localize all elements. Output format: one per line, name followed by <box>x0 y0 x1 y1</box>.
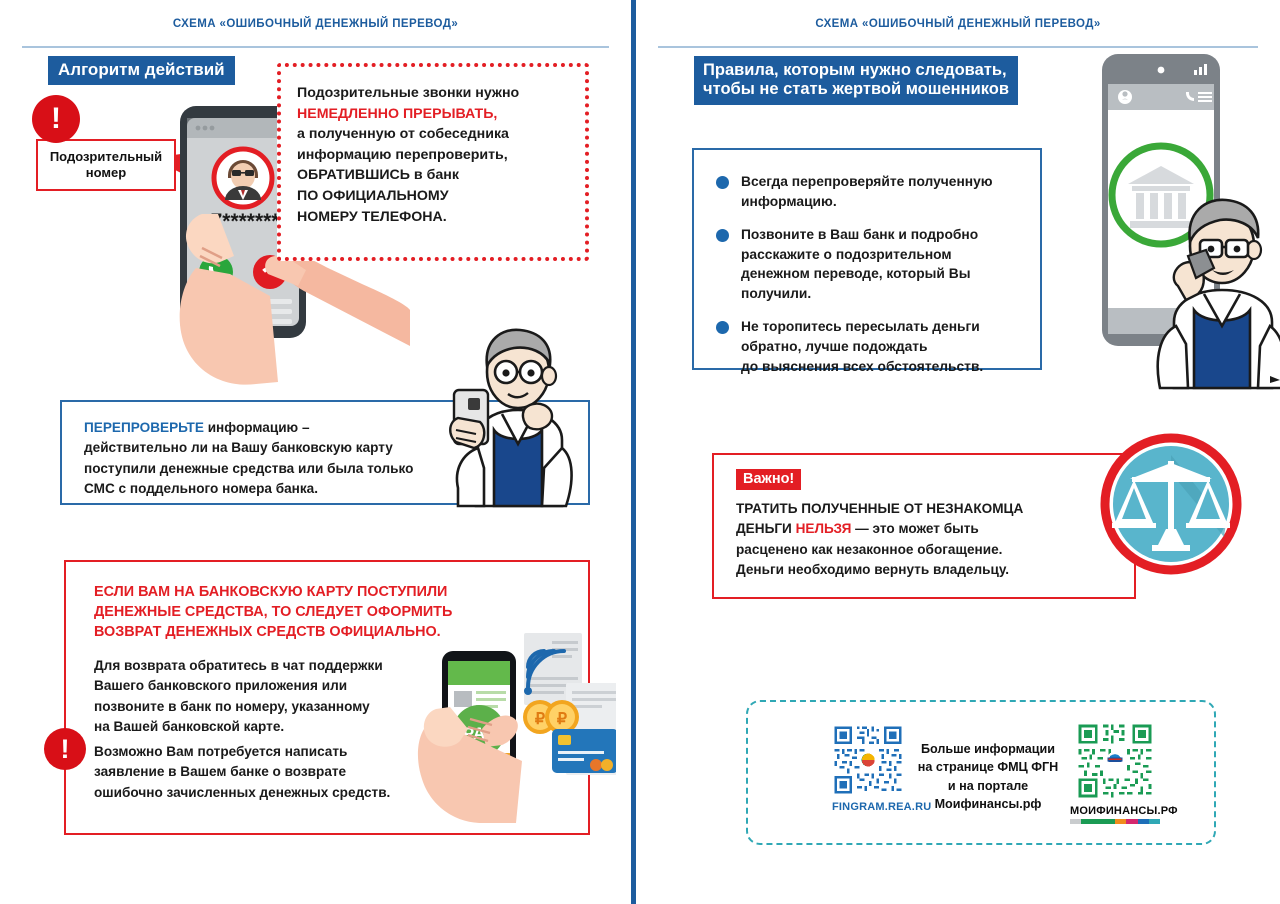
elderly-man-calling-illustration <box>1148 190 1280 390</box>
important-line-1: ТРАТИТЬ ПОЛУЧЕННЫЕ ОТ НЕЗНАКОМЦА <box>736 501 1023 516</box>
return-funds-heading: ЕСЛИ ВАМ НА БАНКОВСКУЮ КАРТУ ПОСТУПИЛИ Д… <box>94 582 452 642</box>
bullet-dot-icon <box>716 176 729 189</box>
return-heading-line-1: ЕСЛИ ВАМ НА БАНКОВСКУЮ КАРТУ ПОСТУПИЛИ <box>94 584 447 600</box>
verify-line-3: поступили денежные средства или была тол… <box>84 461 413 476</box>
right-page: СХЕМА «ОШИБОЧНЫЙ ДЕНЕЖНЫЙ ПЕРЕВОД» Прави… <box>636 0 1280 904</box>
right-page-header: СХЕМА «ОШИБОЧНЫЙ ДЕНЕЖНЫЙ ПЕРЕВОД» <box>658 18 1258 48</box>
return-p1-line-2: Вашего банковского приложения или <box>94 678 347 693</box>
important-box-content: Важно! ТРАТИТЬ ПОЛУЧЕННЫЕ ОТ НЕЗНАКОМЦА … <box>714 455 1134 581</box>
elderly-man-thinking-illustration <box>432 318 612 508</box>
exclamation-icon-return: ! <box>44 728 86 770</box>
qr-code-moifinansy-icon[interactable] <box>1076 722 1154 800</box>
important-line-2-red: НЕЛЬЗЯ <box>796 521 852 536</box>
header-rule <box>22 46 609 48</box>
footer-info-text: Больше информации на странице ФМЦ ФГН и … <box>898 740 1078 813</box>
important-line-2a: ДЕНЬГИ <box>736 521 796 536</box>
note-line-2-red: НЕМЕДЛЕННО ПРЕРЫВАТЬ, <box>297 106 497 122</box>
verify-line-1-rest: информацию – <box>204 420 310 435</box>
suspicious-calls-note-text: Подозрительные звонки нужно НЕМЕДЛЕННО П… <box>281 67 585 241</box>
return-p2-line-1: Возможно Вам потребуется написать <box>94 744 347 759</box>
rule-item-text: Всегда перепроверяйте полученную информа… <box>741 172 993 211</box>
rules-box: Всегда перепроверяйте полученную информа… <box>692 148 1042 370</box>
note-line-3: а полученную от собеседника <box>297 126 509 142</box>
mobile-payment-illustration: ₽ ₽ PAY <box>406 625 616 825</box>
left-page: СХЕМА «ОШИБОЧНЫЙ ДЕНЕЖНЫЙ ПЕРЕВОД» Алгор… <box>0 0 631 904</box>
verify-lead-word: ПЕРЕПРОВЕРЬТЕ <box>84 420 204 435</box>
note-line-5: ОБРАТИВШИСЬ в банк <box>297 167 459 183</box>
return-heading-line-3: ВОЗВРАТ ДЕНЕЖНЫХ СРЕДСТВ ОФИЦИАЛЬНО. <box>94 624 441 640</box>
note-line-6: ПО ОФИЦИАЛЬНОМУ <box>297 188 449 204</box>
qr-moifinansy-block: МОИФИНАНСЫ.РФ <box>1070 722 1160 824</box>
svg-text:₽: ₽ <box>557 711 567 728</box>
rule-item: Всегда перепроверяйте полученную информа… <box>716 172 1026 211</box>
right-header-title: СХЕМА «ОШИБОЧНЫЙ ДЕНЕЖНЫЙ ПЕРЕВОД» <box>658 18 1258 30</box>
qr-code-fingram-icon[interactable] <box>832 724 904 796</box>
note-line-4: информацию перепроверить, <box>297 147 508 163</box>
return-funds-paragraph-1: Для возврата обратитесь в чат поддержки … <box>94 656 383 738</box>
return-p2-line-2: заявление в Вашем банке о возврате <box>94 764 346 779</box>
justice-scales-badge-icon <box>1100 433 1242 575</box>
suspicious-number-callout: Подозрительный номер <box>36 139 176 191</box>
rule-item-text: Позвоните в Ваш банк и подробно расскажи… <box>741 225 978 303</box>
footer-line-4: Моифинансы.рф <box>935 797 1042 811</box>
important-line-3: расценено как незаконное обогащение. <box>736 542 1002 557</box>
important-box-text: ТРАТИТЬ ПОЛУЧЕННЫЕ ОТ НЕЗНАКОМЦА ДЕНЬГИ … <box>736 499 1134 581</box>
left-page-header: СХЕМА «ОШИБОЧНЫЙ ДЕНЕЖНЫЙ ПЕРЕВОД» <box>22 18 609 48</box>
rule-item: Позвоните в Ваш банк и подробно расскажи… <box>716 225 1026 303</box>
rule-item-text: Не торопитесь пересылать деньги обратно,… <box>741 317 983 376</box>
important-tag: Важно! <box>736 469 801 490</box>
important-line-4: Деньги необходимо вернуть владельцу. <box>736 562 1009 577</box>
rules-list: Всегда перепроверяйте полученную информа… <box>716 172 1026 390</box>
suspicious-calls-note-box: Подозрительные звонки нужно НЕМЕДЛЕННО П… <box>277 63 589 261</box>
section-label-rules: Правила, которым нужно следовать, чтобы … <box>694 56 1018 105</box>
brand-color-strip <box>1070 819 1160 824</box>
rule-item: Не торопитесь пересылать деньги обратно,… <box>716 317 1026 376</box>
footer-line-2: на странице ФМЦ ФГН <box>918 760 1059 774</box>
bullet-dot-icon <box>716 229 729 242</box>
bullet-dot-icon <box>716 321 729 334</box>
return-p2-line-3: ошибочно зачисленных денежных средств. <box>94 785 390 800</box>
important-line-2b: — это может быть <box>851 521 978 536</box>
return-heading-line-2: ДЕНЕЖНЫЕ СРЕДСТВА, ТО СЛЕДУЕТ ОФОРМИТЬ <box>94 604 452 620</box>
footer-line-1: Больше информации <box>921 742 1055 756</box>
important-box: Важно! ТРАТИТЬ ПОЛУЧЕННЫЕ ОТ НЕЗНАКОМЦА … <box>712 453 1136 599</box>
return-p1-line-4: на Вашей банковской карте. <box>94 719 284 734</box>
infographic-page: СХЕМА «ОШИБОЧНЫЙ ДЕНЕЖНЫЙ ПЕРЕВОД» Алгор… <box>0 0 1280 904</box>
return-funds-paragraph-2: Возможно Вам потребуется написать заявле… <box>94 742 390 803</box>
footer-line-3: и на портале <box>948 779 1028 793</box>
left-header-title: СХЕМА «ОШИБОЧНЫЙ ДЕНЕЖНЫЙ ПЕРЕВОД» <box>22 18 609 30</box>
note-line-1: Подозрительные звонки нужно <box>297 85 519 101</box>
qr-moifinansy-caption: МОИФИНАНСЫ.РФ <box>1070 805 1160 817</box>
exclamation-icon-call: ! <box>32 95 80 143</box>
footer-qr-card: FINGRAM.REA.RU Больше информации на стра… <box>746 700 1216 845</box>
svg-text:₽: ₽ <box>535 711 545 728</box>
verify-line-2: действительно ли на Вашу банковскую карт… <box>84 440 393 455</box>
section-label-algorithm: Алгоритм действий <box>48 56 235 85</box>
return-p1-line-1: Для возврата обратитесь в чат поддержки <box>94 658 383 673</box>
header-rule-right <box>658 46 1258 48</box>
return-p1-line-3: позвоните в банк по номеру, указанному <box>94 699 370 714</box>
note-line-7: НОМЕРУ ТЕЛЕФОНА. <box>297 209 447 225</box>
verify-line-4: СМС с поддельного номера банка. <box>84 481 318 496</box>
